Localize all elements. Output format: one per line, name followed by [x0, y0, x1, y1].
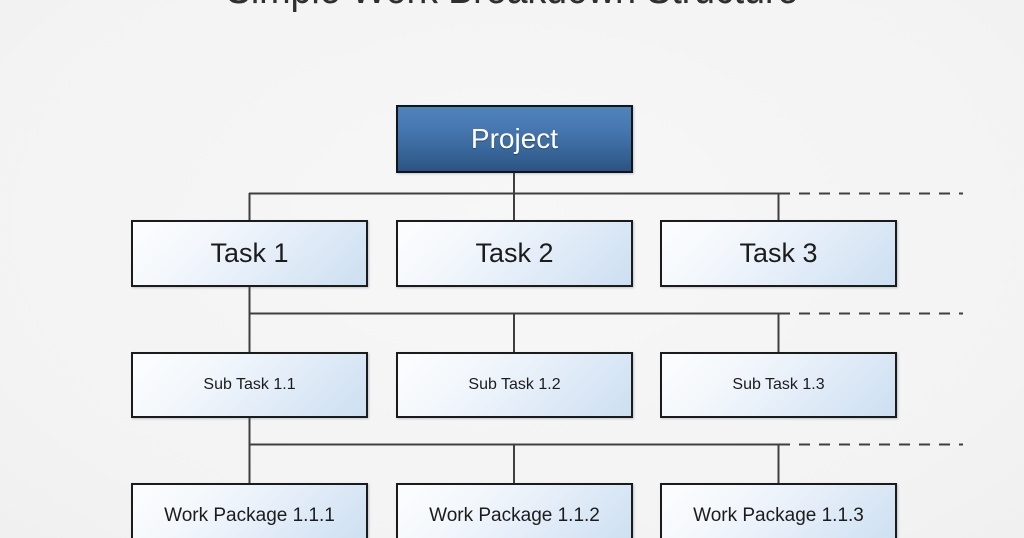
node-task-2-label: Task 2 — [398, 222, 631, 285]
node-work-package-1-1-1[interactable]: Work Package 1.1.1 — [131, 483, 368, 538]
slide-canvas: Simple Work Breakdown Structure — [0, 0, 1024, 538]
node-sub-task-1-1[interactable]: Sub Task 1.1 — [131, 352, 368, 418]
node-work-package-1-1-3[interactable]: Work Package 1.1.3 — [660, 483, 897, 538]
node-task-2[interactable]: Task 2 — [396, 220, 633, 287]
node-sub-task-1-3-label: Sub Task 1.3 — [662, 354, 895, 416]
node-task-1[interactable]: Task 1 — [131, 220, 368, 287]
node-work-package-1-1-2[interactable]: Work Package 1.1.2 — [396, 483, 633, 538]
node-sub-task-1-2-label: Sub Task 1.2 — [398, 354, 631, 416]
node-task-3[interactable]: Task 3 — [660, 220, 897, 287]
node-task-3-label: Task 3 — [662, 222, 895, 285]
node-project[interactable]: Project — [396, 105, 633, 173]
node-work-package-1-1-2-label: Work Package 1.1.2 — [398, 485, 631, 538]
node-sub-task-1-1-label: Sub Task 1.1 — [133, 354, 366, 416]
node-project-label: Project — [398, 107, 631, 171]
node-work-package-1-1-1-label: Work Package 1.1.1 — [133, 485, 366, 538]
node-sub-task-1-3[interactable]: Sub Task 1.3 — [660, 352, 897, 418]
node-sub-task-1-2[interactable]: Sub Task 1.2 — [396, 352, 633, 418]
node-work-package-1-1-3-label: Work Package 1.1.3 — [662, 485, 895, 538]
node-task-1-label: Task 1 — [133, 222, 366, 285]
